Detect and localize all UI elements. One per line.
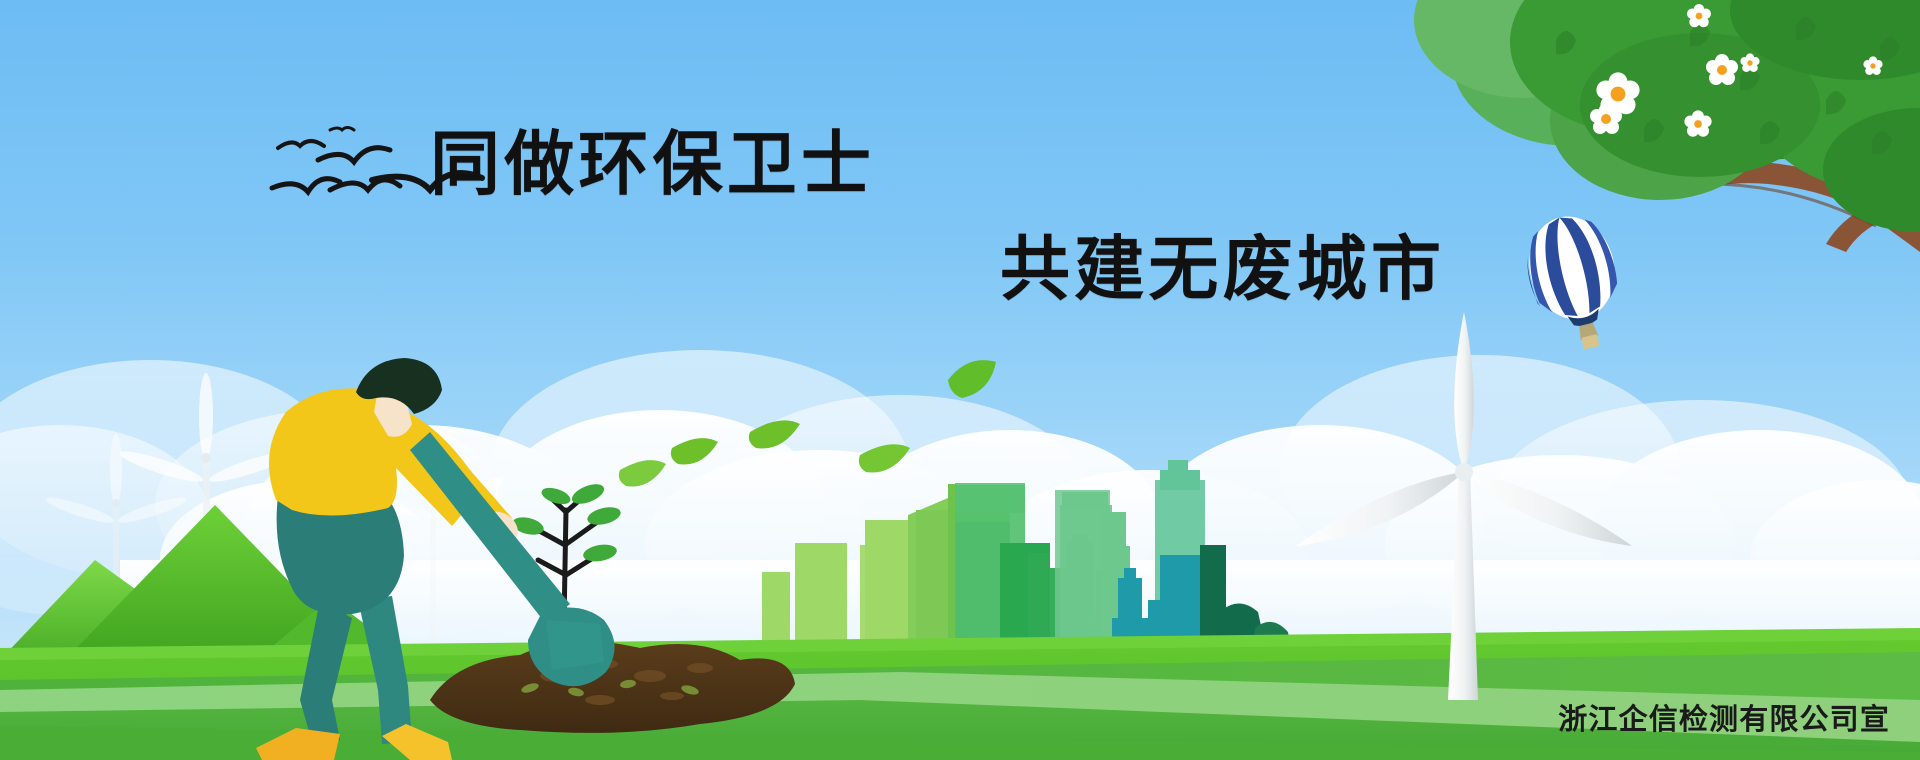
- headline-line-2: 共建无废城市: [1000, 213, 1445, 314]
- scene-background: [0, 0, 1920, 760]
- headline-line-1: 同做环保卫士: [430, 108, 875, 209]
- eco-banner-poster: 同做环保卫士 共建无废城市 浙江企信检测有限公司宣: [0, 0, 1920, 760]
- footer-credit: 浙江企信检测有限公司宣: [1558, 696, 1890, 738]
